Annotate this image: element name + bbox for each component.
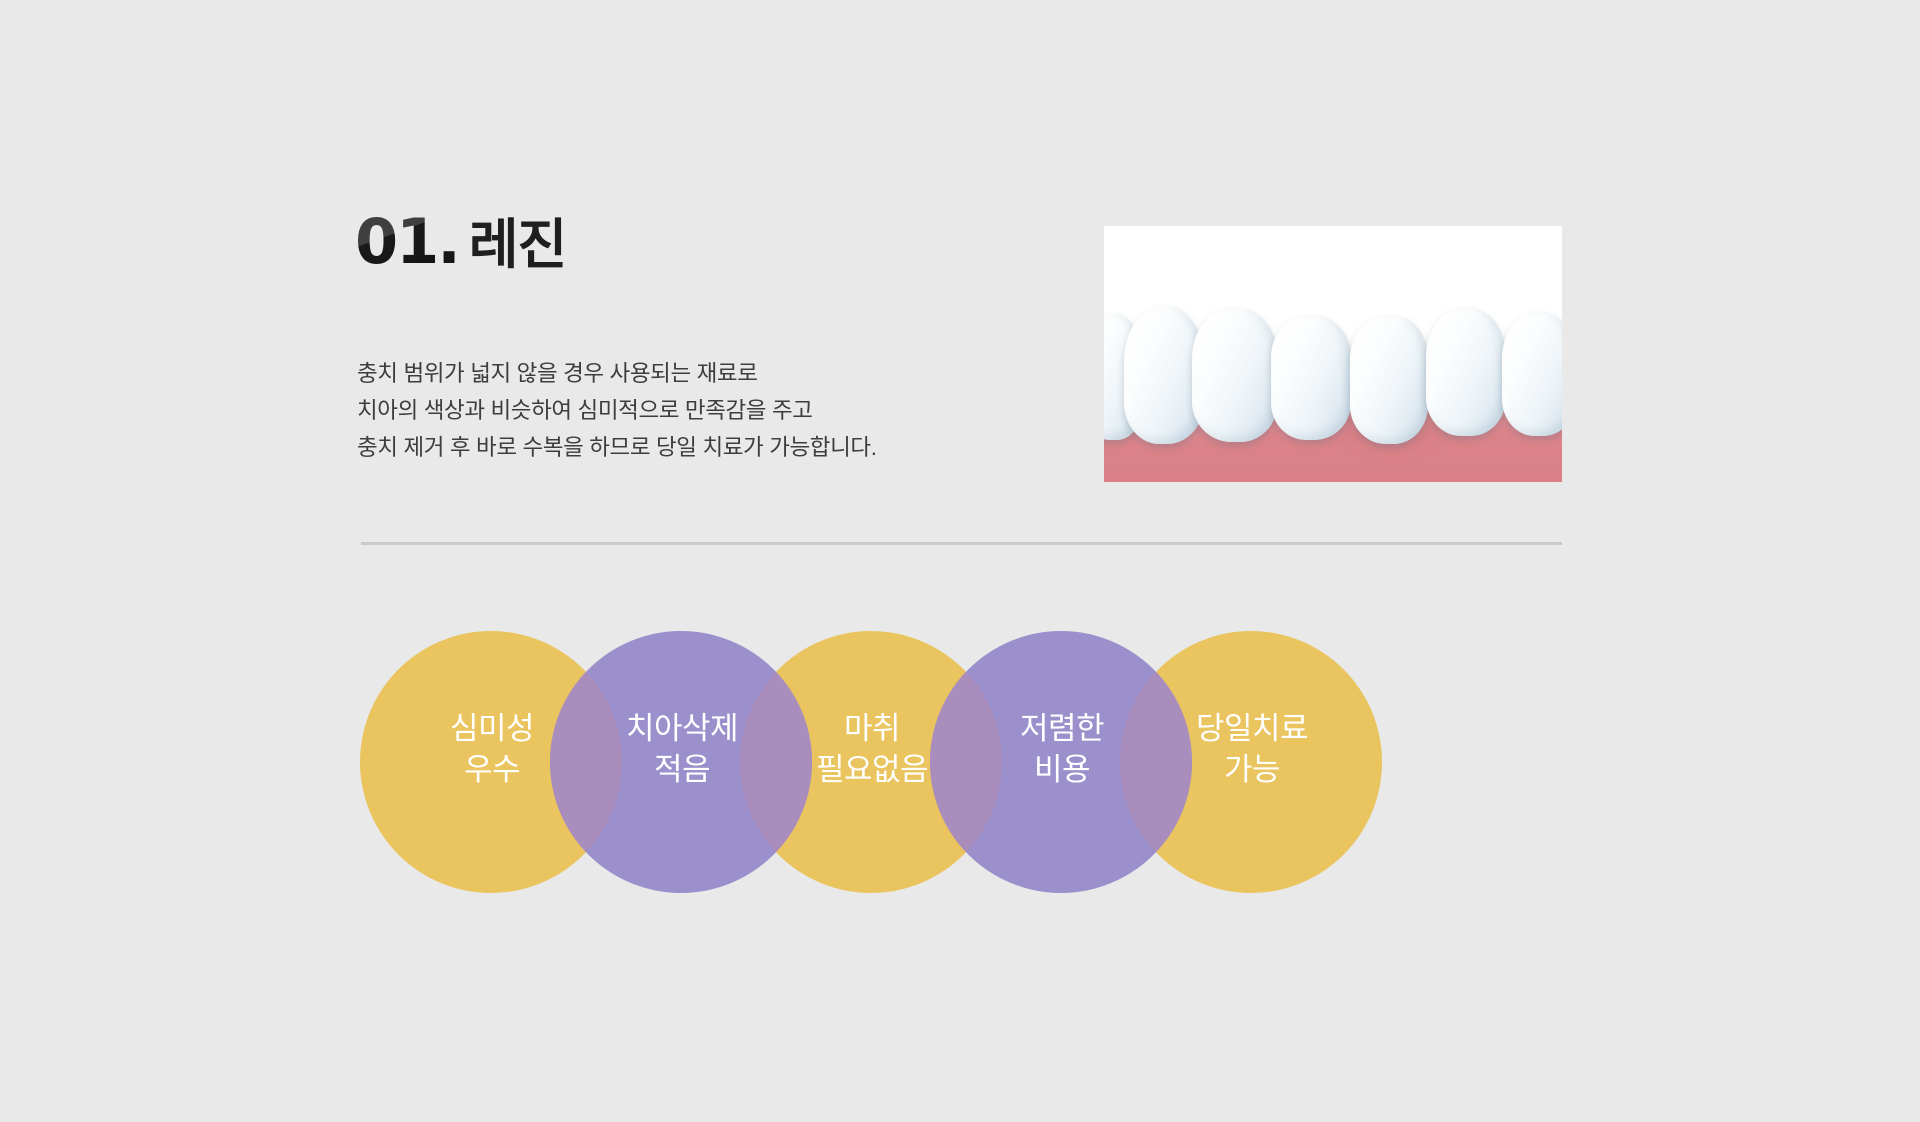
- tooth: [1426, 308, 1506, 436]
- benefit-circles-svg: [360, 631, 1563, 893]
- description-block: 충치 범위가 넓지 않을 경우 사용되는 재료로 치아의 색상과 비슷하여 심미…: [357, 355, 877, 466]
- tooth: [1350, 316, 1428, 444]
- description-line-2: 치아의 색상과 비슷하여 심미적으로 만족감을 주고: [357, 392, 877, 429]
- description-line-1: 충치 범위가 넓지 않을 경우 사용되는 재료로: [357, 355, 877, 392]
- tooth: [1271, 316, 1351, 440]
- section-title: 레진: [469, 200, 566, 279]
- tooth: [1192, 308, 1278, 442]
- tooth: [1502, 312, 1562, 436]
- page-title: 01. 레진: [355, 200, 566, 279]
- benefit-circle-group: 심미성 우수 치아삭제 적음 마취 필요없음 저렴한 비용 당일치료 가능: [361, 632, 1562, 892]
- section-divider: [361, 542, 1562, 545]
- section-number: 01.: [355, 205, 459, 278]
- description-line-3: 충치 제거 후 바로 수복을 하므로 당일 치료가 가능합니다.: [357, 429, 877, 466]
- slide-canvas: 01. 레진 충치 범위가 넓지 않을 경우 사용되는 재료로 치아의 색상과 …: [0, 0, 1920, 1122]
- dental-teeth-image: [1104, 226, 1562, 482]
- teeth-group: [1104, 226, 1562, 482]
